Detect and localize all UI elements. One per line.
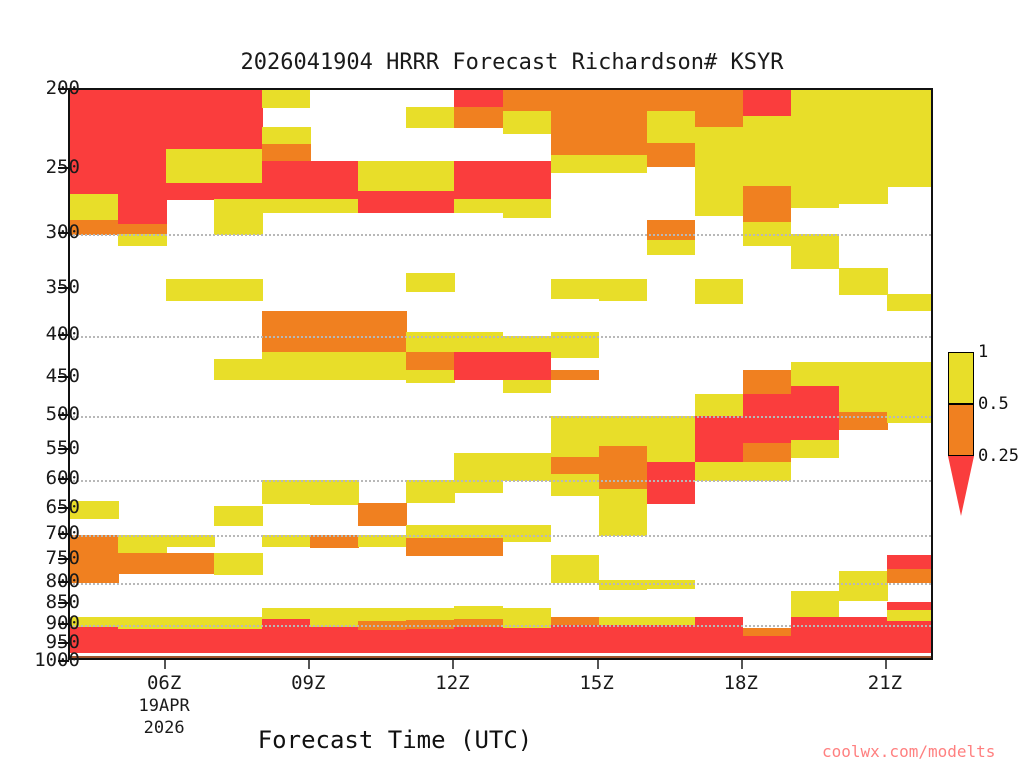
colorbar-band [948,404,974,456]
y-axis-tick [58,232,69,234]
y-axis-tick [58,507,69,509]
x-axis-tick [308,660,310,669]
plot-area [68,88,933,660]
y-axis-tick [58,334,69,336]
y-axis-tick [58,287,69,289]
x-axis-tick [164,660,166,669]
x-axis-tick-label: 06Z [147,672,181,694]
y-axis-tick [58,602,69,604]
x-axis-tick-label: 12Z [435,672,469,694]
y-axis-tick [58,88,69,90]
y-axis-tick [58,623,69,625]
chart-page: 2026041904 HRRR Forecast Richardson# KSY… [0,0,1024,768]
y-axis-tick [58,642,69,644]
y-axis-tick [58,414,69,416]
y-axis-tick [58,558,69,560]
colorbar-band [948,352,974,404]
y-axis-tick [58,533,69,535]
x-axis-tick [597,660,599,669]
x-axis-title: Forecast Time (UTC) [0,726,790,754]
chart-title: 2026041904 HRRR Forecast Richardson# KSY… [0,50,1024,75]
colorbar-arrow-down [948,456,974,516]
x-axis-tick [741,660,743,669]
y-axis-tick [58,581,69,583]
colorbar-tick-label: 0.25 [978,446,1019,466]
y-axis-tick [58,660,69,662]
y-axis-tick [58,167,69,169]
y-axis-tick [58,448,69,450]
x-axis-date-label: 19APR [139,696,190,716]
x-axis-tick-label: 15Z [579,672,613,694]
terrain-fill [70,656,931,660]
colorbar-tick-label: 0.5 [978,394,1009,414]
y-axis-tick [58,478,69,480]
x-axis-tick [452,660,454,669]
x-axis-tick-label: 18Z [724,672,758,694]
x-axis-tick [885,660,887,669]
x-axis-tick-label: 09Z [291,672,325,694]
x-axis-tick-label: 21Z [868,672,902,694]
terrain-band [70,90,931,658]
colorbar-tick-label: 1 [978,342,988,362]
y-axis-tick [58,376,69,378]
watermark: coolwx.com/modelts [822,742,995,761]
